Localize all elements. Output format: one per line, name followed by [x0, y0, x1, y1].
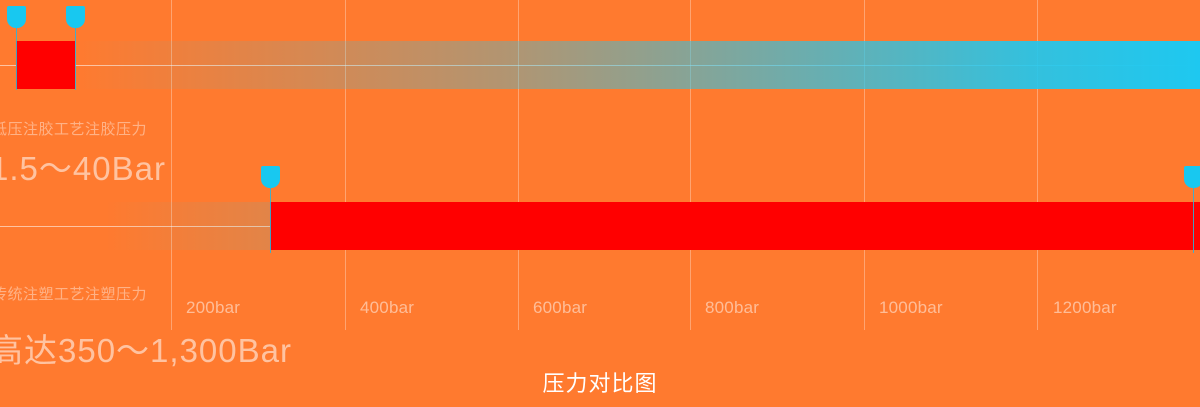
bar-fade-track — [75, 65, 1200, 89]
caption-low-pressure-label: 低压注胶工艺注胶压力 — [0, 118, 147, 139]
axis-tick-1000: 1000bar — [879, 298, 943, 318]
marker-low-max[interactable] — [75, 6, 76, 90]
map-pin-icon — [66, 6, 85, 28]
marker-traditional-max[interactable] — [1193, 166, 1194, 253]
bar-row — [0, 65, 1200, 89]
bar-row — [0, 41, 1200, 65]
bar-row — [0, 226, 1200, 250]
bar-red-segment — [270, 202, 1200, 226]
axis-tick-600: 600bar — [533, 298, 587, 318]
marker-traditional-min[interactable] — [270, 166, 271, 253]
map-pin-icon — [7, 6, 26, 28]
chart-title: 压力对比图 — [0, 366, 1200, 398]
axis-tick-400: 400bar — [360, 298, 414, 318]
bar-red-segment — [16, 65, 75, 89]
map-pin-icon — [261, 166, 280, 188]
axis-tick-200: 200bar — [186, 298, 240, 318]
bar-fade-track — [75, 41, 1200, 65]
bar-group-traditional — [0, 202, 1200, 250]
bar-red-segment — [270, 226, 1200, 250]
axis-tick-1200: 1200bar — [1053, 298, 1117, 318]
axis-tick-800: 800bar — [705, 298, 759, 318]
bar-group-low-pressure — [0, 41, 1200, 89]
pressure-comparison-chart: 低压注胶工艺注胶压力 1.5～40Bar 传统注塑工艺注塑压力 高达350～1,… — [0, 0, 1200, 407]
caption-traditional-value: 高达350～1,300Bar — [0, 324, 292, 372]
marker-low-min[interactable] — [16, 6, 17, 90]
bar-red-segment — [16, 41, 75, 65]
caption-low-pressure-value: 1.5～40Bar — [0, 142, 166, 190]
bar-row — [0, 202, 1200, 226]
caption-traditional-label: 传统注塑工艺注塑压力 — [0, 283, 147, 304]
map-pin-icon — [1184, 166, 1200, 188]
